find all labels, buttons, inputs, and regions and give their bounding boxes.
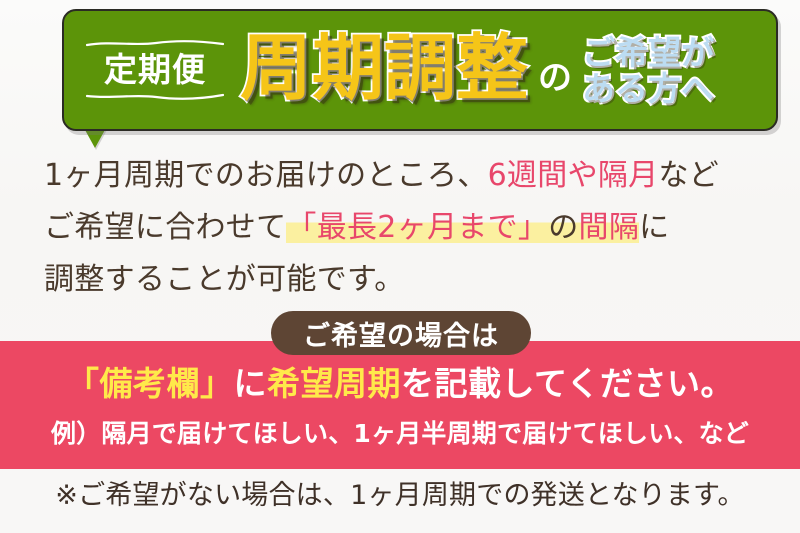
body-line1-part-a: 1ヶ月周期でのお届けのところ、 [44,158,488,193]
instruction-field-name: 「備考欄」 [66,364,234,403]
request-case-pill-label: ご希望の場合は [303,314,499,353]
header-main-title: 周期調整 [240,32,528,104]
header-title-particle: の [538,61,572,95]
instruction-example-text: 例）隔月で届けてほしい、1ヶ月半周期で届けてほしい、など [0,421,800,446]
body-line2-part-c: の [548,210,578,245]
instruction-cycle-term: 希望周期 [267,364,401,403]
header-subtitle-line2: ある方へ [582,71,714,107]
header-subtitle-line1: ご希望が [582,35,714,71]
instruction-part-b: に [233,364,267,403]
body-line2-emphasis-quoted: 「最長2ヶ月まで」 [286,210,548,245]
speech-bubble-tail-icon [84,128,106,148]
body-line-2: ご希望に合わせて「最長2ヶ月まで」の間隔に [44,202,774,254]
header-green-box: 定期便 周期調整 の ご希望が ある方へ [62,9,778,131]
request-case-pill: ご希望の場合は [271,311,531,355]
promo-banner: 定期便 周期調整 の ご希望が ある方へ 1ヶ月周期でのお届けのところ、6週間や… [0,0,800,533]
footnote-text: ※ご希望がない場合は、1ヶ月周期での発送となります。 [0,482,800,509]
body-line2-part-a: ご希望に合わせて [44,210,286,245]
instruction-part-d: を記載してください。 [401,364,734,403]
header-section: 定期便 周期調整 の ご希望が ある方へ [62,9,778,131]
body-line-3: 調整することが可能です。 [44,254,774,306]
subscription-badge: 定期便 [82,40,228,100]
header-subtitle: ご希望が ある方へ [582,35,714,106]
instruction-band: 「備考欄」に希望周期を記載してください。 例）隔月で届けてほしい、1ヶ月半周期で… [0,341,800,469]
body-line2-emphasis-kankaku: 間隔 [579,210,640,245]
body-line1-emphasis: 6週間や隔月 [488,158,659,193]
body-line-1: 1ヶ月周期でのお届けのところ、6週間や隔月など [44,150,774,202]
instruction-main-text: 「備考欄」に希望周期を記載してください。 [0,367,800,400]
wave-line-top-icon [86,40,224,47]
wave-line-bottom-icon [86,93,224,100]
body-line2-part-e: に [639,210,669,245]
subscription-badge-label: 定期便 [104,50,206,89]
body-line1-part-c: など [658,158,719,193]
body-paragraph: 1ヶ月周期でのお届けのところ、6週間や隔月など ご希望に合わせて「最長2ヶ月まで… [44,150,774,306]
